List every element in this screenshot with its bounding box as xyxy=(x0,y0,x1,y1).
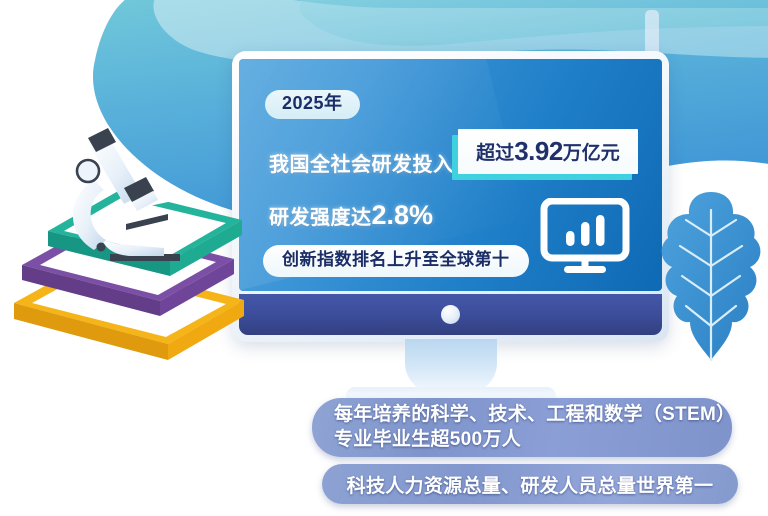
leaf-illustration xyxy=(660,188,762,368)
microscope-books-illustration xyxy=(2,128,252,368)
innovation-rank-badge: 创新指数排名上升至全球第十 xyxy=(263,245,529,277)
rd-intensity-value: 2.8% xyxy=(372,200,434,230)
highlight-suffix: 万亿元 xyxy=(563,138,620,165)
screen-content: 2025年 我国全社会研发投入 研发强度达2.8% 超过3.92万亿元 创新指数… xyxy=(239,59,662,291)
talent-pool-banner: 科技人力资源总量、研发人员总量世界第一 xyxy=(322,464,738,504)
monitor-power-button[interactable] xyxy=(441,305,460,324)
stem-graduates-line-1: 每年培养的科学、技术、工程和数学（STEM） xyxy=(334,403,732,428)
stem-graduates-banner: 每年培养的科学、技术、工程和数学（STEM） 专业毕业生超500万人 xyxy=(312,398,732,457)
monitor-illustration: 2025年 我国全社会研发投入 研发强度达2.8% 超过3.92万亿元 创新指数… xyxy=(232,51,669,342)
stem-graduates-line-2: 专业毕业生超500万人 xyxy=(334,428,732,453)
rd-intensity-label: 研发强度达 xyxy=(269,207,372,229)
rd-investment-highlight: 超过3.92万亿元 xyxy=(458,129,638,174)
monitor-stand-neck xyxy=(405,339,497,393)
talent-pool-line-1: 科技人力资源总量、研发人员总量世界第一 xyxy=(347,471,714,498)
rd-investment-label: 我国全社会研发投入 xyxy=(269,148,454,177)
highlight-number: 3.92 xyxy=(514,136,563,167)
rd-intensity-line: 研发强度达2.8% xyxy=(269,200,433,231)
monitor-chin xyxy=(239,294,662,335)
infographic-canvas: 2025年 我国全社会研发投入 研发强度达2.8% 超过3.92万亿元 创新指数… xyxy=(0,0,768,516)
highlight-face: 超过3.92万亿元 xyxy=(458,129,638,174)
monitor-screen: 2025年 我国全社会研发投入 研发强度达2.8% 超过3.92万亿元 创新指数… xyxy=(239,59,662,291)
monitor-bar-chart-icon xyxy=(540,198,630,276)
year-badge: 2025年 xyxy=(265,90,360,119)
highlight-prefix: 超过 xyxy=(476,138,514,165)
